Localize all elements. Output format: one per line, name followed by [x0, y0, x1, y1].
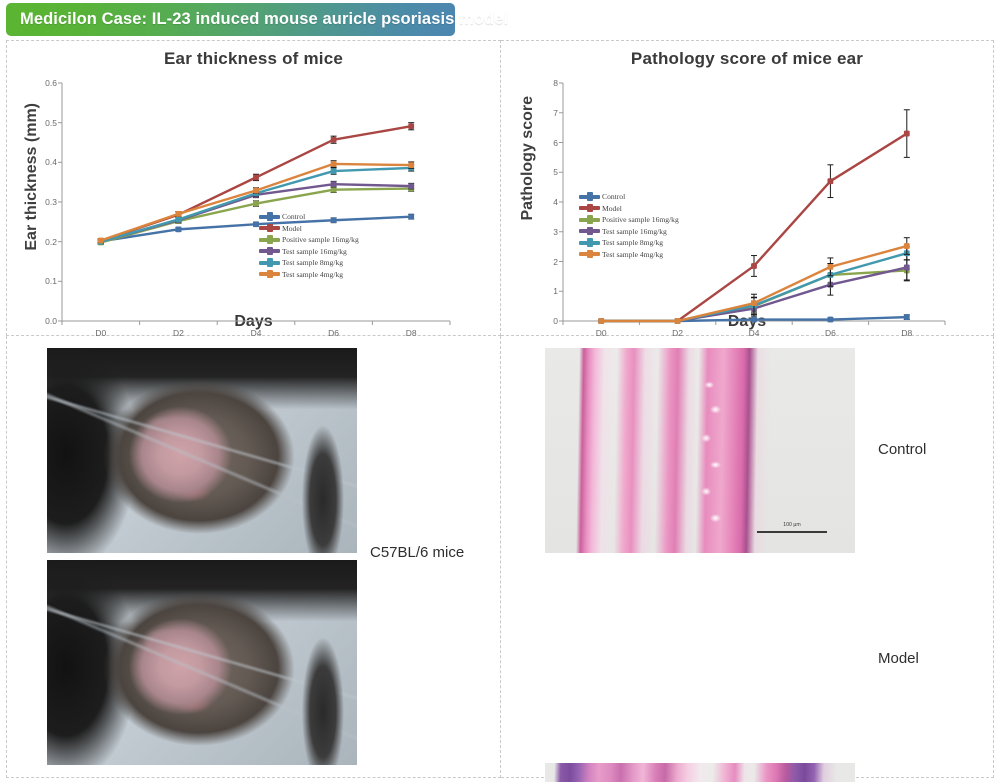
- legend-label: Test sample 8mg/kg: [282, 258, 343, 267]
- legend-label: Test sample 4mg/kg: [282, 270, 343, 279]
- y-axis-tick: 0.3: [35, 197, 57, 207]
- plot-area: [501, 41, 993, 335]
- legend-item: Test sample 8mg/kg: [579, 237, 679, 249]
- y-axis-tick: 3: [536, 227, 558, 237]
- legend-color-swatch: [579, 229, 600, 233]
- y-axis-label: Pathology score: [519, 96, 537, 220]
- scalebar-control: [757, 531, 827, 533]
- legend-label: Positive sample 16mg/kg: [282, 235, 359, 244]
- y-axis-tick: 4: [536, 197, 558, 207]
- legend-item: Positive sample 16mg/kg: [579, 214, 679, 226]
- y-axis-tick: 0.2: [35, 237, 57, 247]
- y-axis-tick: 0.0: [35, 316, 57, 326]
- y-axis-tick: 0: [536, 316, 558, 326]
- legend-label: Control: [602, 192, 625, 201]
- legend-color-swatch: [259, 261, 280, 265]
- legend-label: Test sample 16mg/kg: [602, 227, 667, 236]
- histology-label-model: Model: [878, 650, 919, 667]
- legend-item: Test sample 4mg/kg: [259, 269, 359, 281]
- y-axis-tick: 0.6: [35, 78, 57, 88]
- legend-color-swatch: [259, 238, 280, 242]
- panel-mouse-photos: C57BL/6 mice: [6, 336, 501, 778]
- y-axis-tick: 0.4: [35, 157, 57, 167]
- legend-color-swatch: [259, 272, 280, 276]
- legend-color-swatch: [579, 195, 600, 199]
- legend-color-swatch: [259, 226, 280, 230]
- y-axis-tick: 8: [536, 78, 558, 88]
- chart-title: Pathology score of mice ear: [501, 49, 993, 69]
- histology-image-model: 100 μm: [545, 763, 855, 782]
- legend-item: Positive sample 16mg/kg: [259, 234, 359, 246]
- y-axis-tick: 7: [536, 108, 558, 118]
- mice-caption: C57BL/6 mice: [370, 544, 464, 561]
- chart-legend: ControlModelPositive sample 16mg/kgTest …: [259, 211, 359, 280]
- chart-title: Ear thickness of mice: [7, 49, 500, 69]
- legend-item: Model: [579, 203, 679, 215]
- legend-item: Control: [579, 191, 679, 203]
- legend-item: Test sample 8mg/kg: [259, 257, 359, 269]
- plot-area: [7, 41, 500, 335]
- y-axis-tick: 1: [536, 286, 558, 296]
- legend-item: Test sample 16mg/kg: [259, 246, 359, 258]
- header-banner: Medicilon Case: IL-23 induced mouse auri…: [6, 3, 455, 36]
- chart-pathology-score: Pathology score of mice earPathology sco…: [501, 41, 993, 335]
- legend-color-swatch: [579, 241, 600, 245]
- legend-label: Control: [282, 212, 305, 221]
- legend-label: Test sample 8mg/kg: [602, 238, 663, 247]
- legend-item: Control: [259, 211, 359, 223]
- scalebar-label-control: 100 μm: [757, 522, 827, 528]
- legend-label: Positive sample 16mg/kg: [602, 215, 679, 224]
- banner-title: Medicilon Case: IL-23 induced mouse auri…: [6, 10, 508, 29]
- y-axis-tick: 2: [536, 257, 558, 267]
- chart-legend: ControlModelPositive sample 16mg/kgTest …: [579, 191, 679, 260]
- histology-label-control: Control: [878, 441, 926, 458]
- legend-item: Model: [259, 223, 359, 235]
- legend-item: Test sample 4mg/kg: [579, 249, 679, 261]
- legend-color-swatch: [259, 249, 280, 253]
- legend-color-swatch: [579, 218, 600, 222]
- panel-ear-thickness: Ear thickness of miceEar thickness (mm)D…: [6, 40, 501, 336]
- y-axis-tick: 6: [536, 138, 558, 148]
- chart-ear-thickness: Ear thickness of miceEar thickness (mm)D…: [7, 41, 500, 335]
- legend-label: Model: [602, 204, 622, 213]
- histology-image-control: 100 μm: [545, 348, 855, 553]
- y-axis-tick: 0.1: [35, 276, 57, 286]
- legend-color-swatch: [579, 206, 600, 210]
- legend-color-swatch: [259, 215, 280, 219]
- mouse-ear-photo-top: [47, 348, 357, 553]
- y-axis-tick: 5: [536, 167, 558, 177]
- panel-histology: 100 μm Control 100 μm Model: [501, 336, 994, 778]
- legend-color-swatch: [579, 252, 600, 256]
- legend-label: Model: [282, 224, 302, 233]
- y-axis-tick: 0.5: [35, 118, 57, 128]
- mouse-ear-photo-bottom: [47, 560, 357, 765]
- figure-page: Medicilon Case: IL-23 induced mouse auri…: [0, 0, 1000, 782]
- legend-label: Test sample 4mg/kg: [602, 250, 663, 259]
- legend-label: Test sample 16mg/kg: [282, 247, 347, 256]
- histology-tissue-model: [545, 763, 855, 782]
- panel-pathology-score: Pathology score of mice earPathology sco…: [501, 40, 994, 336]
- legend-item: Test sample 16mg/kg: [579, 226, 679, 238]
